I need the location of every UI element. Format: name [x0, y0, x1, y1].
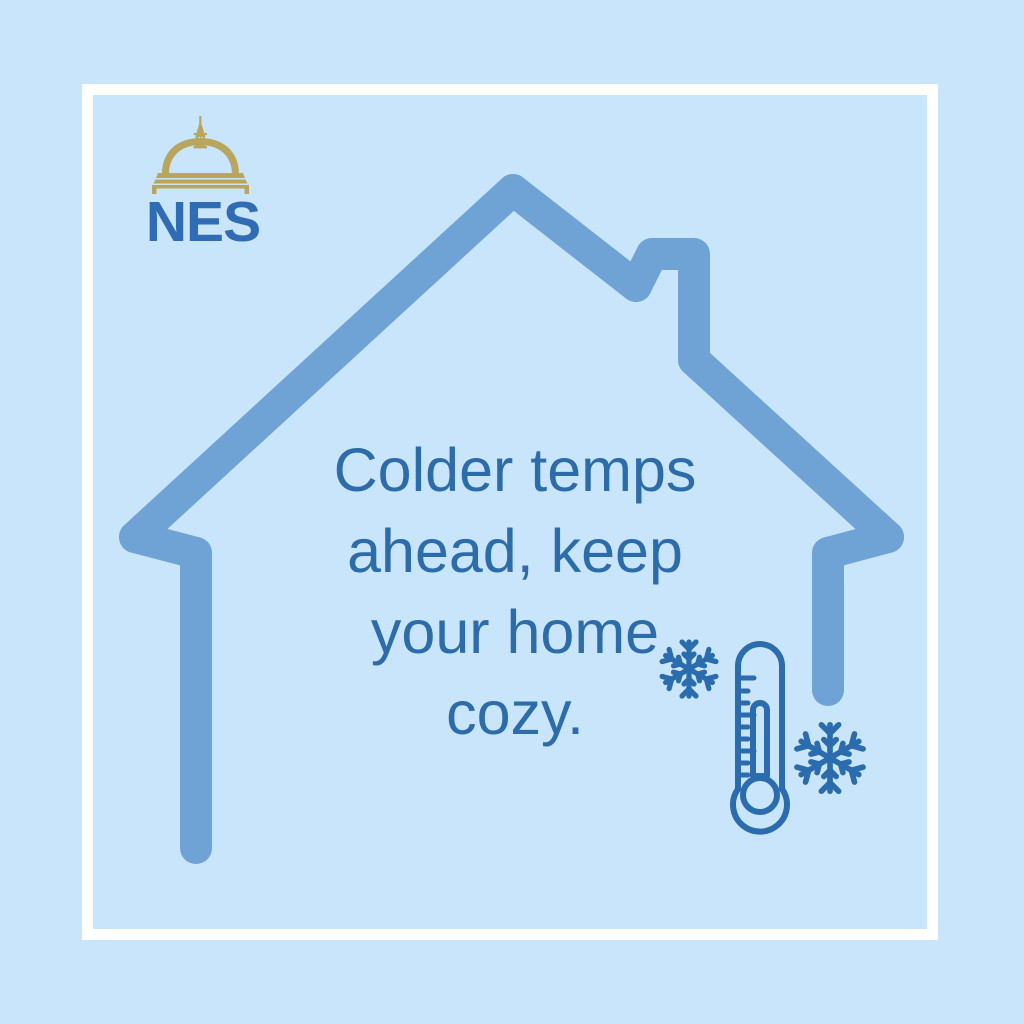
thermometer-icon: [733, 644, 787, 832]
nes-wordmark: NES: [118, 194, 288, 251]
snowflake-icon: [797, 725, 863, 791]
headline-line-2: ahead, keep: [305, 511, 725, 592]
headline-line-1: Colder temps: [305, 430, 725, 511]
weather-icon-group: [650, 630, 880, 860]
nes-logo: NES: [118, 116, 288, 246]
capitol-dome-icon: [146, 116, 256, 194]
snowflake-icon: [662, 642, 716, 696]
poster-canvas: NES Colder temps ahead, keep your home c…: [0, 0, 1024, 1024]
